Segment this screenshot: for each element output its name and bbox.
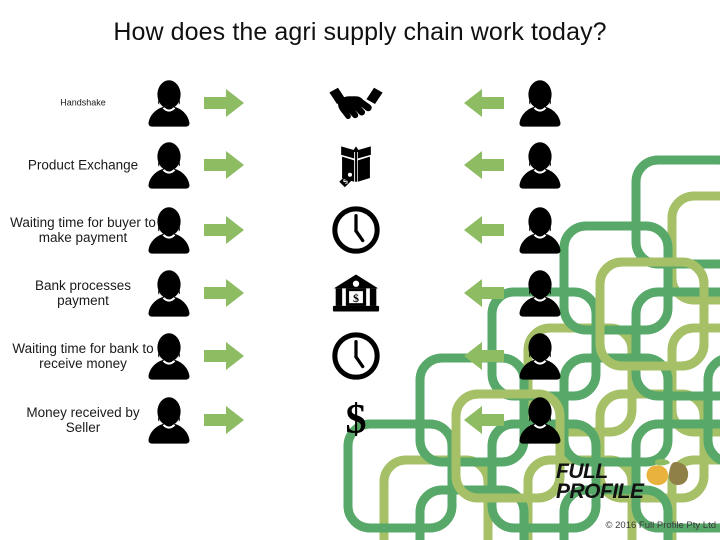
arrow-right-icon [204,404,244,436]
arrow-right-icon [204,149,244,181]
arrow-left-icon [464,149,504,181]
arrow-left-icon [464,87,504,119]
process-row: Handshake [0,75,720,131]
logo-line-1: FULL [556,462,644,482]
stage-label: Waiting time for buyer to make payment [8,215,158,245]
buyer-person-icon [147,141,191,189]
seller-person-icon [518,396,562,444]
full-profile-logo: FULL PROFILE [556,462,708,508]
arrow-left-icon [464,404,504,436]
process-row: Money received by Seller $ [0,392,720,448]
open-box-with-price-tag-icon [326,137,386,193]
two-grain-leaves-icon [640,458,696,488]
seller-person-icon [518,141,562,189]
dollar-sign-icon: $ [326,392,386,448]
buyer-person-icon [147,79,191,127]
stage-label: Handshake [8,98,158,109]
seller-person-icon [518,269,562,317]
handshake-icon [326,75,386,131]
buyer-person-icon [147,206,191,254]
clock-icon [326,202,386,258]
process-row: Waiting time for bank to receive money [0,328,720,384]
arrow-right-icon [204,87,244,119]
copyright-text: © 2016 Full Profile Pty Ltd [540,520,716,531]
clock-icon [326,328,386,384]
stage-label: Product Exchange [8,158,158,173]
arrow-right-icon [204,277,244,309]
stage-label: Waiting time for bank to receive money [8,341,158,371]
seller-person-icon [518,332,562,380]
slide-canvas: How does the agri supply chain work toda… [0,0,720,540]
arrow-left-icon [464,340,504,372]
arrow-right-icon [204,214,244,246]
buyer-person-icon [147,332,191,380]
arrow-left-icon [464,214,504,246]
arrow-right-icon [204,340,244,372]
buyer-person-icon [147,269,191,317]
seller-person-icon [518,206,562,254]
arrow-left-icon [464,277,504,309]
logo-wordmark: FULL PROFILE [556,462,644,502]
process-row: Bank processes payment [0,265,720,321]
bank-icon [326,265,386,321]
dollar-glyph: $ [346,399,367,441]
stage-label: Bank processes payment [8,278,158,308]
slide-title: How does the agri supply chain work toda… [0,18,720,47]
process-row: Product Exchange [0,137,720,193]
logo-line-2: PROFILE [556,482,644,502]
seller-person-icon [518,79,562,127]
buyer-person-icon [147,396,191,444]
process-row: Waiting time for buyer to make payment [0,202,720,258]
stage-label: Money received by Seller [8,405,158,435]
